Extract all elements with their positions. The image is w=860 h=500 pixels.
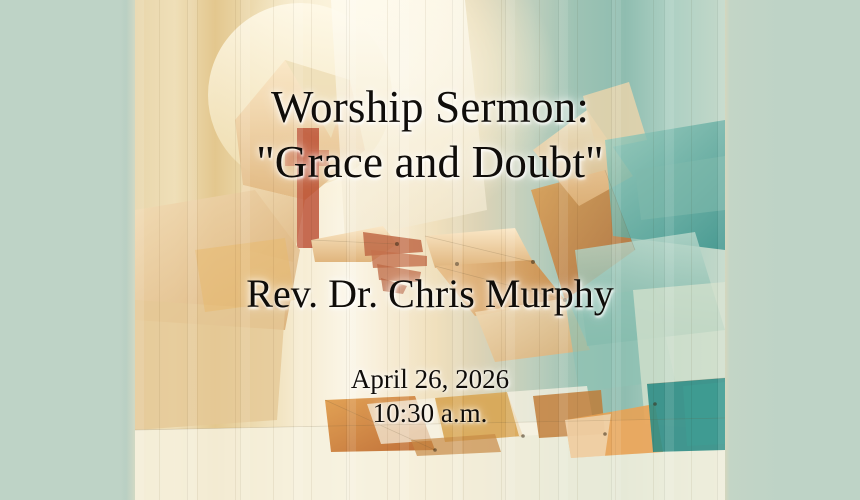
sermon-title-line-2: "Grace and Doubt" [0, 135, 860, 190]
slide-text-layer: Worship Sermon: "Grace and Doubt" Rev. D… [0, 0, 860, 500]
sermon-announcement-slide: Worship Sermon: "Grace and Doubt" Rev. D… [0, 0, 860, 500]
service-time: 10:30 a.m. [0, 396, 860, 430]
service-datetime: April 26, 2026 10:30 a.m. [0, 362, 860, 430]
speaker-name: Rev. Dr. Chris Murphy [0, 270, 860, 318]
service-date: April 26, 2026 [351, 364, 509, 394]
sermon-title: Worship Sermon: "Grace and Doubt" [0, 80, 860, 190]
sermon-title-line-1: Worship Sermon: [0, 80, 860, 135]
